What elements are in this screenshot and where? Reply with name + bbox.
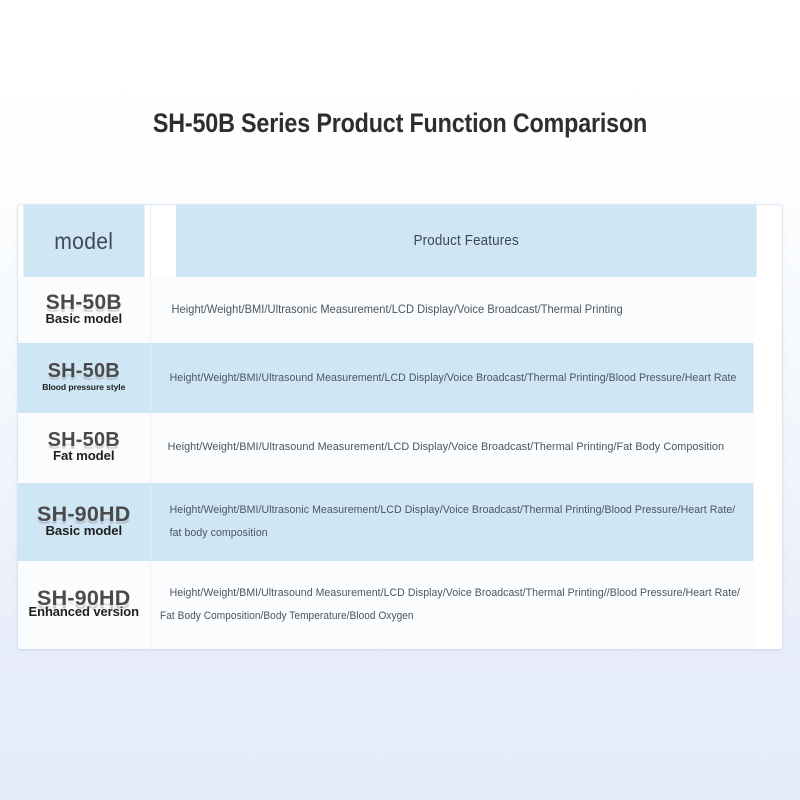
model-code: SH-50B xyxy=(46,292,122,313)
model-code-block: SH-50B SH-50B xyxy=(46,292,122,313)
model-cell: SH-90HD SH-90HD Enhanced version xyxy=(18,561,150,649)
feature-line: Height/Weight/BMI/Ultrasound Measurement… xyxy=(170,366,741,391)
comparison-table-container: model Product Features SH-50B SH-50B Bas… xyxy=(18,205,782,649)
model-variant-label: Basic model xyxy=(22,311,146,327)
table-row: SH-50B SH-50B Basic model Height/Weight/… xyxy=(18,277,782,343)
column-header-model: model xyxy=(23,205,144,277)
table-header-row: model Product Features xyxy=(18,205,782,277)
feature-line: Height/Weight/BMI/Ultrasonic Measurement… xyxy=(171,297,740,323)
features-cell: Height/Weight/BMI/Ultrasound Measurement… xyxy=(150,413,754,483)
model-variant-label: Blood pressure style xyxy=(22,382,146,392)
table-body: SH-50B SH-50B Basic model Height/Weight/… xyxy=(18,277,782,649)
model-cell: SH-90HD SH-90HD Basic model xyxy=(18,483,150,561)
feature-line: Height/Weight/BMI/Ultrasonic Measurement… xyxy=(170,499,741,522)
model-variant-label: Enhanced version xyxy=(22,604,146,619)
model-code-block: SH-50B SH-50B xyxy=(48,361,120,381)
model-variant-label: Fat model xyxy=(22,448,146,464)
table-row: SH-90HD SH-90HD Enhanced version Height/… xyxy=(18,561,782,649)
features-cell: Height/Weight/BMI/Ultrasonic Measurement… xyxy=(150,277,754,343)
comparison-table: model Product Features SH-50B SH-50B Bas… xyxy=(18,205,782,649)
features-cell: Height/Weight/BMI/Ultrasonic Measurement… xyxy=(150,483,754,561)
model-code: SH-50B xyxy=(48,430,120,450)
page-title: SH-50B Series Product Function Compariso… xyxy=(48,108,752,139)
feature-line: fat body composition xyxy=(170,522,741,545)
features-cell: Height/Weight/BMI/Ultrasound Measurement… xyxy=(150,561,754,649)
column-header-product-features: Product Features xyxy=(175,205,756,277)
table-header: model Product Features xyxy=(18,205,782,277)
feature-line: Height/Weight/BMI/Ultrasound Measurement… xyxy=(170,582,741,605)
model-cell: SH-50B SH-50B Basic model xyxy=(18,277,150,343)
features-cell: Height/Weight/BMI/Ultrasound Measurement… xyxy=(150,343,754,413)
model-code-block: SH-50B SH-50B xyxy=(48,430,120,450)
model-cell: SH-50B SH-50B Blood pressure style xyxy=(18,343,150,413)
model-cell: SH-50B SH-50B Fat model xyxy=(18,413,150,483)
feature-line: Height/Weight/BMI/Ultrasound Measurement… xyxy=(168,435,741,461)
model-variant-label: Basic model xyxy=(22,523,146,539)
table-row: SH-90HD SH-90HD Basic model Height/Weigh… xyxy=(18,483,782,561)
feature-line: Fat Body Composition/Body Temperature/Bl… xyxy=(160,605,740,627)
table-row: SH-50B SH-50B Blood pressure style Heigh… xyxy=(18,343,782,413)
table-row: SH-50B SH-50B Fat model Height/Weight/BM… xyxy=(18,413,782,483)
model-code: SH-50B xyxy=(48,361,120,381)
